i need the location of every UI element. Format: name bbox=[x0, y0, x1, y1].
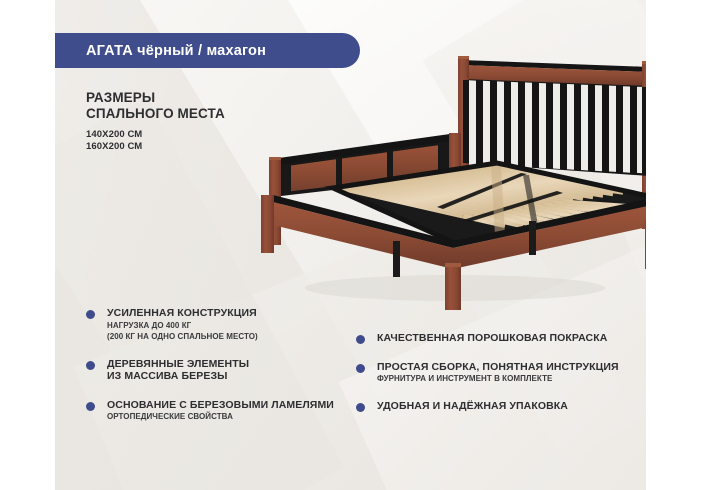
feature-title: УДОБНАЯ И НАДЁЖНАЯ УПАКОВКА bbox=[377, 400, 636, 413]
feature-title: ПРОСТАЯ СБОРКА, ПОНЯТНАЯ ИНСТРУКЦИЯ bbox=[377, 361, 636, 374]
page-title: АГАТА чёрный / махагон bbox=[55, 43, 266, 59]
feature-birch-slat-base: ОСНОВАНИЕ С БЕРЕЗОВЫМИ ЛАМЕЛЯМИ ОРТОПЕДИ… bbox=[86, 399, 354, 423]
dimensions-heading-line2: СПАЛЬНОГО МЕСТА bbox=[86, 106, 225, 122]
feature-subtitle-line1: НАГРУЗКА ДО 400 КГ bbox=[107, 321, 354, 331]
feature-list-right: КАЧЕСТВЕННАЯ ПОРОШКОВАЯ ПОКРАСКА ПРОСТАЯ… bbox=[356, 332, 636, 413]
bullet-icon bbox=[86, 361, 95, 370]
bullet-icon bbox=[86, 310, 95, 319]
product-title-banner: АГАТА чёрный / махагон bbox=[55, 33, 360, 68]
content-panel: АГАТА чёрный / махагон РАЗМЕРЫ СПАЛЬНОГО… bbox=[55, 0, 646, 490]
feature-birch-wood-elements: ДЕРЕВЯННЫЕ ЭЛЕМЕНТЫ ИЗ МАССИВА БЕРЕЗЫ bbox=[86, 358, 354, 383]
dimension-value-1: 140X200 СМ bbox=[86, 129, 225, 141]
bullet-icon bbox=[356, 403, 365, 412]
feature-powder-coating: КАЧЕСТВЕННАЯ ПОРОШКОВАЯ ПОКРАСКА bbox=[356, 332, 636, 345]
feature-easy-assembly: ПРОСТАЯ СБОРКА, ПОНЯТНАЯ ИНСТРУКЦИЯ ФУРН… bbox=[356, 361, 636, 385]
bed-illustration bbox=[205, 45, 646, 310]
infographic-canvas: АГАТА чёрный / махагон РАЗМЕРЫ СПАЛЬНОГО… bbox=[0, 0, 701, 490]
leg-right bbox=[645, 221, 646, 269]
dimensions-block: РАЗМЕРЫ СПАЛЬНОГО МЕСТА 140X200 СМ 160X2… bbox=[86, 90, 225, 152]
leg-near-left bbox=[261, 195, 274, 253]
center-support-leg-left bbox=[393, 241, 400, 277]
dimensions-heading-line1: РАЗМЕРЫ bbox=[86, 90, 225, 106]
feature-subtitle-line1: ФУРНИТУРА И ИНСТРУМЕНТ В КОМПЛЕКТЕ bbox=[377, 374, 636, 384]
feature-title: УСИЛЕННАЯ КОНСТРУКЦИЯ bbox=[107, 307, 354, 320]
feature-reinforced-construction: УСИЛЕННАЯ КОНСТРУКЦИЯ НАГРУЗКА ДО 400 КГ… bbox=[86, 307, 354, 342]
feature-title-line2: ИЗ МАССИВА БЕРЕЗЫ bbox=[107, 370, 354, 383]
feature-title: ОСНОВАНИЕ С БЕРЕЗОВЫМИ ЛАМЕЛЯМИ bbox=[107, 399, 354, 412]
bullet-icon bbox=[356, 364, 365, 373]
bullet-icon bbox=[356, 335, 365, 344]
feature-subtitle-line2: (200 КГ НА ОДНО СПАЛЬНОЕ МЕСТО) bbox=[107, 332, 354, 342]
feature-packaging: УДОБНАЯ И НАДЁЖНАЯ УПАКОВКА bbox=[356, 400, 636, 413]
dimension-value-2: 160X200 СМ bbox=[86, 141, 225, 153]
feature-list-left: УСИЛЕННАЯ КОНСТРУКЦИЯ НАГРУЗКА ДО 400 КГ… bbox=[86, 307, 354, 422]
center-support-leg-right bbox=[529, 221, 536, 255]
bullet-icon bbox=[86, 402, 95, 411]
feature-title-line1: ДЕРЕВЯННЫЕ ЭЛЕМЕНТЫ bbox=[107, 358, 354, 371]
leg-front-corner bbox=[445, 263, 461, 310]
feature-title: КАЧЕСТВЕННАЯ ПОРОШКОВАЯ ПОКРАСКА bbox=[377, 332, 636, 345]
feature-subtitle-line1: ОРТОПЕДИЧЕСКИЕ СВОЙСТВА bbox=[107, 412, 354, 422]
